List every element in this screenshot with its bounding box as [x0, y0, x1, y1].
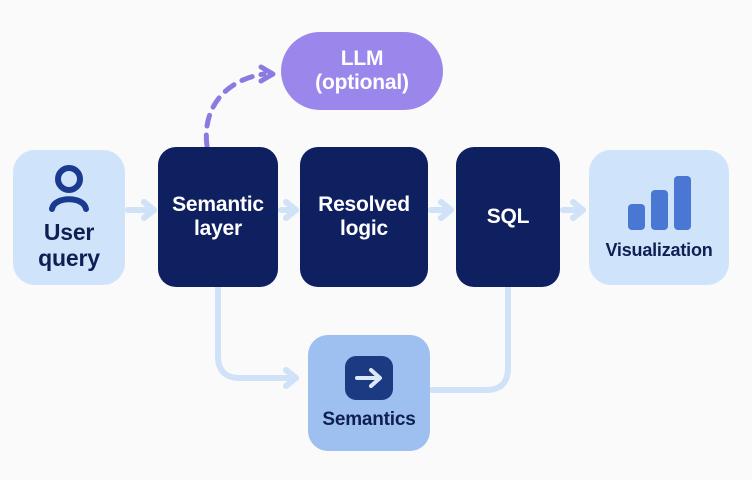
node-resolved-logic-label: Resolved logic	[318, 193, 410, 240]
node-semantic-layer[interactable]: Semantic layer	[158, 147, 278, 287]
node-llm-label: LLM (optional)	[315, 47, 409, 94]
node-sql-label: SQL	[487, 205, 530, 229]
node-user-query[interactable]: User query	[13, 150, 125, 285]
node-semantics-line1: Semantics	[322, 409, 415, 430]
bar-chart-icon	[622, 174, 696, 230]
connector-user-query-to-semantic-layer	[128, 202, 154, 218]
node-semantic-layer-label: Semantic layer	[172, 193, 264, 240]
node-semantic-layer-line1: Semantic	[172, 193, 264, 217]
node-llm-line2: (optional)	[315, 71, 409, 95]
arrow-right-icon	[345, 356, 393, 400]
connector-sql-to-visualization	[563, 202, 583, 218]
connector-sql-to-semantics	[432, 288, 508, 390]
node-user-query-label: User query	[38, 220, 100, 272]
node-semantic-layer-line2: layer	[172, 217, 264, 241]
connector-semantic-layer-to-resolved-logic	[281, 202, 296, 218]
node-sql[interactable]: SQL	[456, 147, 560, 287]
person-icon	[43, 164, 95, 212]
diagram-canvas: User query Semantic layer Resolved logic…	[0, 0, 752, 480]
node-sql-line1: SQL	[487, 205, 530, 229]
node-semantics[interactable]: Semantics	[308, 335, 430, 451]
node-visualization-line1: Visualization	[605, 240, 712, 260]
connector-semantic-layer-to-semantics	[218, 288, 296, 386]
node-llm[interactable]: LLM (optional)	[281, 32, 443, 110]
node-visualization-label: Visualization	[605, 240, 712, 260]
node-visualization[interactable]: Visualization	[589, 150, 729, 285]
node-resolved-logic-line1: Resolved	[318, 193, 410, 217]
connector-semantic-layer-to-llm	[206, 67, 273, 146]
node-llm-line1: LLM	[315, 47, 409, 71]
node-user-query-line2: query	[38, 246, 100, 272]
node-resolved-logic[interactable]: Resolved logic	[300, 147, 428, 287]
node-semantics-label: Semantics	[322, 409, 415, 430]
node-user-query-line1: User	[38, 220, 100, 246]
node-resolved-logic-line2: logic	[318, 217, 410, 241]
connector-resolved-logic-to-sql	[431, 202, 451, 218]
